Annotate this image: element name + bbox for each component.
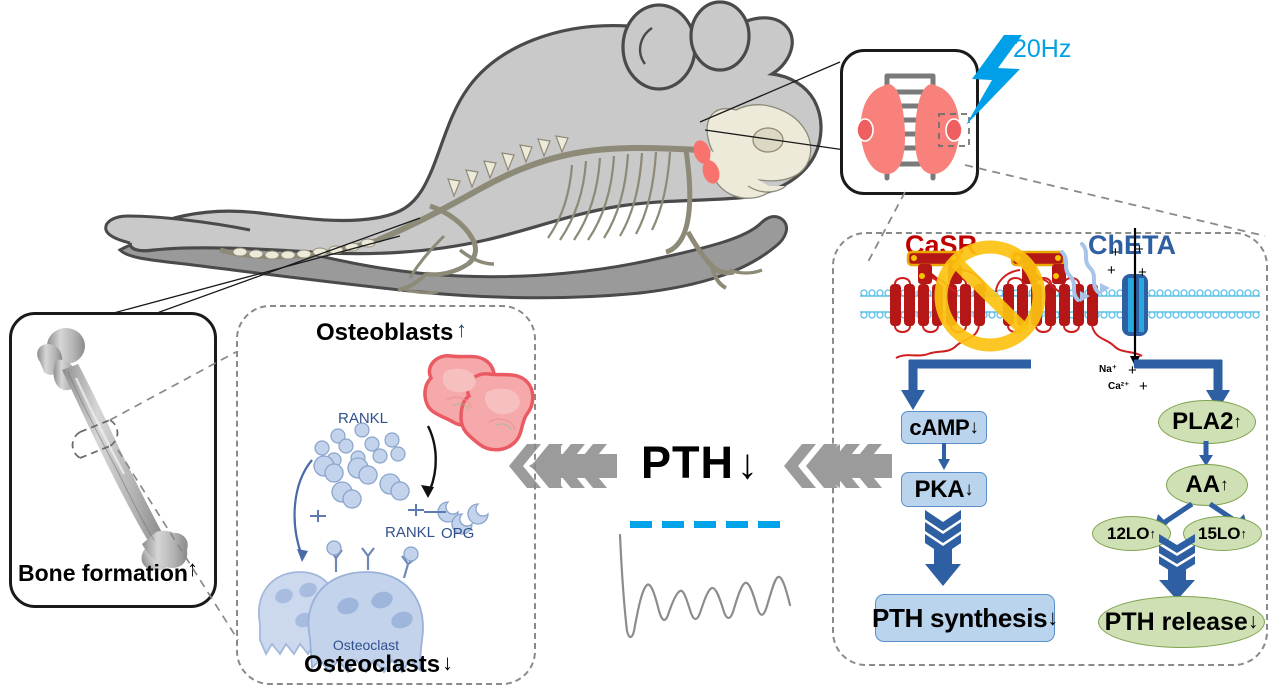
node-pka-label: PKA [915, 476, 965, 504]
osteoblasts-label: Osteoblasts [316, 319, 453, 347]
rankl-label-top: RANKL [338, 410, 388, 427]
bone-formation-change: ↑ [187, 556, 198, 582]
node-pla2: PLA2↑ [1158, 400, 1256, 444]
pth-change: ↓ [737, 440, 758, 488]
node-camp: cAMP↓ [901, 411, 987, 444]
node-pla2-label: PLA2 [1172, 408, 1233, 436]
ion-label-na: Na⁺ [1099, 364, 1117, 375]
thyroid-parathyroid-inset-illustration [843, 52, 976, 192]
charge-plus-3: + [1107, 262, 1116, 279]
node-pla2-change: ↑ [1233, 412, 1242, 432]
charge-plus-1: + [1111, 244, 1120, 261]
node-15lo-label: 15LO [1198, 524, 1241, 544]
arrow-casr-to-camp [895, 358, 1035, 414]
osteoblasts-change: ↑ [456, 317, 467, 343]
node-pth-release: PTH release↓ [1098, 596, 1265, 648]
ion-label-ca: Ca²⁺ [1108, 381, 1129, 392]
node-camp-change: ↓ [969, 417, 978, 439]
node-pka-change: ↓ [964, 479, 973, 501]
arrow-pathway-to-pth [780, 440, 898, 492]
stim-frequency-label: 20Hz [1013, 35, 1071, 64]
pth-oscillation-trace [612, 527, 802, 647]
charge-plus-2: + [1135, 241, 1144, 258]
mouse-skeleton-illustration [100, 0, 830, 300]
mouse-panel [100, 0, 830, 300]
pth-label: PTH [641, 437, 734, 489]
node-pth-synthesis-label: PTH synthesis [872, 603, 1047, 634]
node-12lo-label: 12LO [1107, 524, 1150, 544]
arrow-pka-to-pth-synthesis [922, 508, 964, 588]
arrow-lo-to-pth-release [1156, 532, 1198, 602]
node-aa-label: AA [1185, 471, 1220, 499]
bone-formation-caption: Bone formation [18, 560, 188, 587]
thyroid-inset-panel [840, 49, 979, 195]
charge-plus-4: + [1138, 264, 1147, 281]
arrow-camp-to-pka [933, 443, 955, 471]
node-pth-release-label: PTH release [1105, 608, 1248, 637]
osteoclasts-change: ↓ [442, 650, 453, 676]
cheta-label: ChETA [1088, 230, 1176, 261]
node-pth-release-change: ↓ [1248, 610, 1259, 634]
node-aa-change: ↑ [1220, 475, 1229, 495]
node-pth-synthesis: PTH synthesis↓ [875, 594, 1055, 642]
osteoclasts-label: Osteoclasts [304, 651, 440, 679]
node-camp-label: cAMP [909, 415, 969, 441]
femur-bone-image [18, 320, 204, 592]
node-pth-synthesis-change: ↓ [1047, 605, 1058, 631]
node-pka: PKA ↓ [901, 472, 987, 507]
node-15lo-change: ↑ [1241, 526, 1248, 541]
